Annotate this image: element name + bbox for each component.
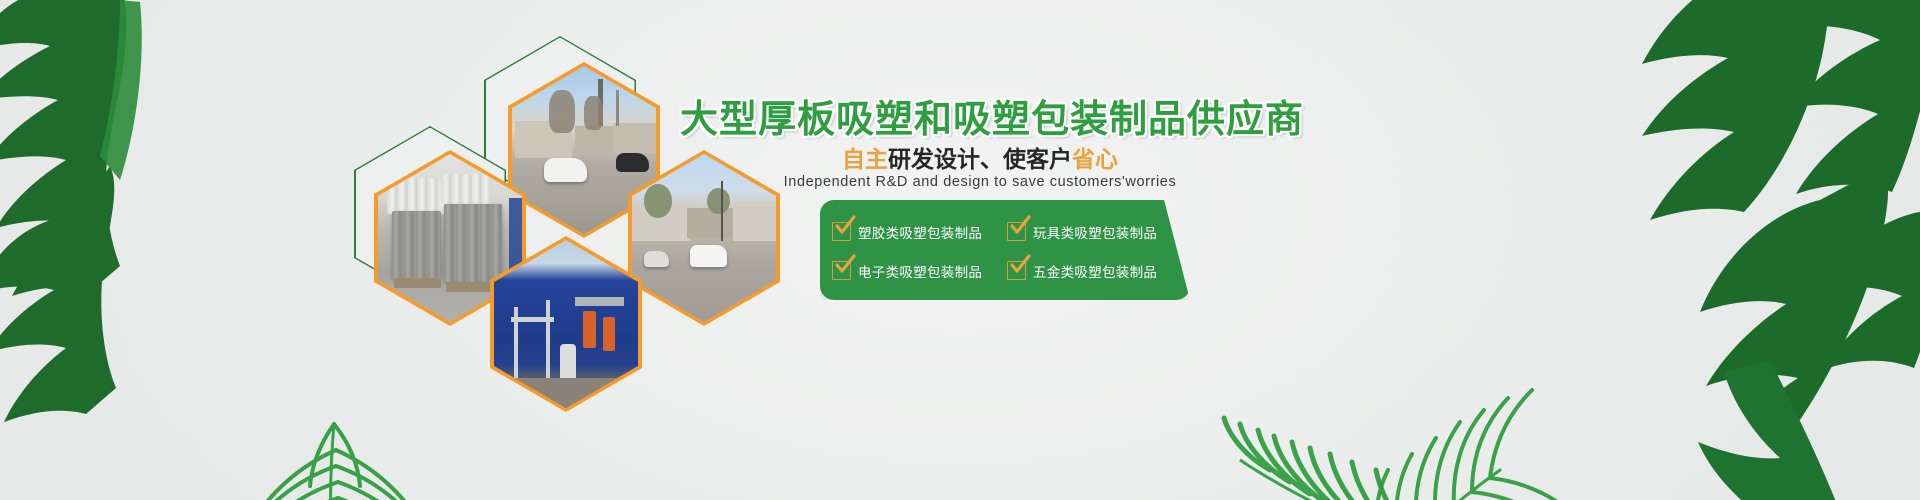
feature-item-electronics[interactable]: 电子类吸塑包装制品 bbox=[832, 261, 1007, 281]
check-icon bbox=[832, 222, 851, 241]
feature-label: 电子类吸塑包装制品 bbox=[858, 261, 982, 281]
banner-headline: 大型厚板吸塑和吸塑包装制品供应商 bbox=[680, 88, 1280, 143]
feature-item-hardware[interactable]: 五金类吸塑包装制品 bbox=[1007, 261, 1182, 281]
feature-item-toys[interactable]: 玩具类吸塑包装制品 bbox=[1007, 222, 1182, 242]
shrub-bottom-center-icon bbox=[690, 410, 1020, 500]
feature-item-plastic[interactable]: 塑胶类吸塑包装制品 bbox=[832, 222, 1007, 242]
check-icon bbox=[1007, 222, 1026, 241]
banner-subtitle: 自主研发设计、使客户省心 bbox=[680, 140, 1280, 174]
feature-label: 五金类吸塑包装制品 bbox=[1033, 261, 1157, 281]
monstera-leaf-bottom-right-icon bbox=[1630, 360, 1920, 500]
features-grid: 塑胶类吸塑包装制品 玩具类吸塑包装制品 电子类吸塑包装制品 bbox=[832, 212, 1182, 290]
feature-label: 塑胶类吸塑包装制品 bbox=[858, 222, 982, 242]
subtitle-lead: 自主 bbox=[842, 147, 888, 173]
banner-english-tagline: Independent R&D and design to save custo… bbox=[680, 174, 1280, 190]
palm-frond-bottom-right-icon bbox=[1280, 340, 1710, 500]
feature-label: 玩具类吸塑包装制品 bbox=[1033, 222, 1157, 242]
marketing-text-block: 大型厚板吸塑和吸塑包装制品供应商 自主研发设计、使客户省心 Independen… bbox=[660, 70, 1280, 330]
promo-banner: 大型厚板吸塑和吸塑包装制品供应商 自主研发设计、使客户省心 Independen… bbox=[0, 0, 1920, 500]
monstera-leaf-left-icon bbox=[0, 0, 210, 450]
check-icon bbox=[1007, 261, 1026, 280]
machine-shop-photo bbox=[494, 240, 638, 408]
check-icon bbox=[832, 261, 851, 280]
subtitle-middle: 研发设计、使客户 bbox=[888, 147, 1072, 173]
monstera-leaf-right-icon bbox=[1470, 0, 1920, 420]
palm-frond-right-icon bbox=[1120, 320, 1450, 500]
subtitle-tail: 省心 bbox=[1072, 147, 1118, 173]
